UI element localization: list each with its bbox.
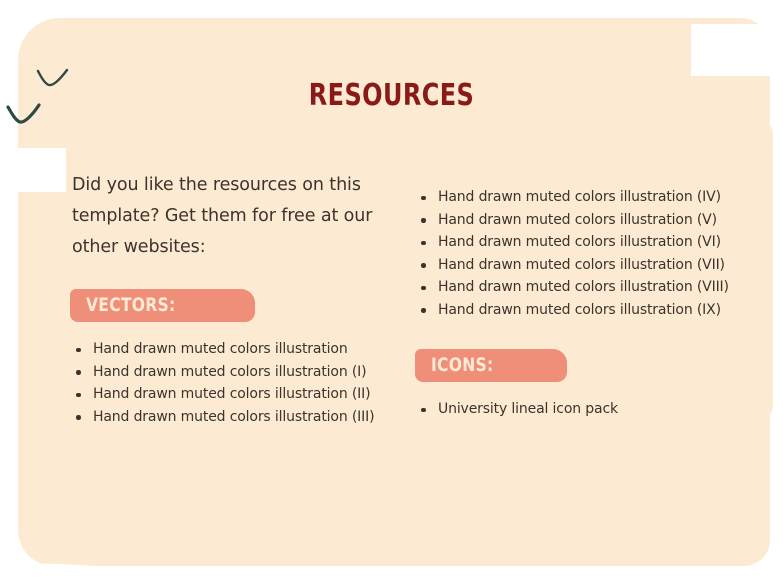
icons-badge: ICONS: [415, 349, 567, 382]
list-item: Hand drawn muted colors illustration (VI… [415, 276, 755, 299]
card-edge-bump [755, 120, 773, 420]
list-item: Hand drawn muted colors illustration (VI… [415, 254, 755, 277]
right-column: Hand drawn muted colors illustration (IV… [415, 170, 755, 421]
icons-badge-label: ICONS: [431, 356, 493, 375]
bird-check-icon [6, 103, 42, 127]
page-title: RESOURCES [78, 78, 704, 113]
left-column: Did you like the resources on this templ… [70, 170, 400, 428]
icons-list: University lineal icon pack [415, 398, 755, 421]
list-item: Hand drawn muted colors illustration (II… [70, 406, 400, 429]
vectors-badge: VECTORS: [70, 289, 255, 322]
vectors-list: Hand drawn muted colors illustration Han… [70, 338, 400, 428]
slide-canvas: RESOURCES Did you like the resources on … [0, 0, 783, 587]
vectors-continued-list: Hand drawn muted colors illustration (IV… [415, 186, 755, 321]
bird-check-icon [36, 68, 70, 90]
vectors-badge-label: VECTORS: [86, 296, 175, 315]
list-item: Hand drawn muted colors illustration (I) [70, 361, 400, 384]
list-item: Hand drawn muted colors illustration (IV… [415, 186, 755, 209]
edge-notch-left-icon [0, 148, 66, 192]
list-item: Hand drawn muted colors illustration (II… [70, 383, 400, 406]
list-item: Hand drawn muted colors illustration (IX… [415, 299, 755, 322]
list-item: Hand drawn muted colors illustration (V) [415, 209, 755, 232]
intro-paragraph: Did you like the resources on this templ… [72, 170, 382, 263]
list-item: University lineal icon pack [415, 398, 755, 421]
list-item: Hand drawn muted colors illustration [70, 338, 400, 361]
list-item: Hand drawn muted colors illustration (VI… [415, 231, 755, 254]
edge-notch-right-icon [691, 24, 783, 76]
